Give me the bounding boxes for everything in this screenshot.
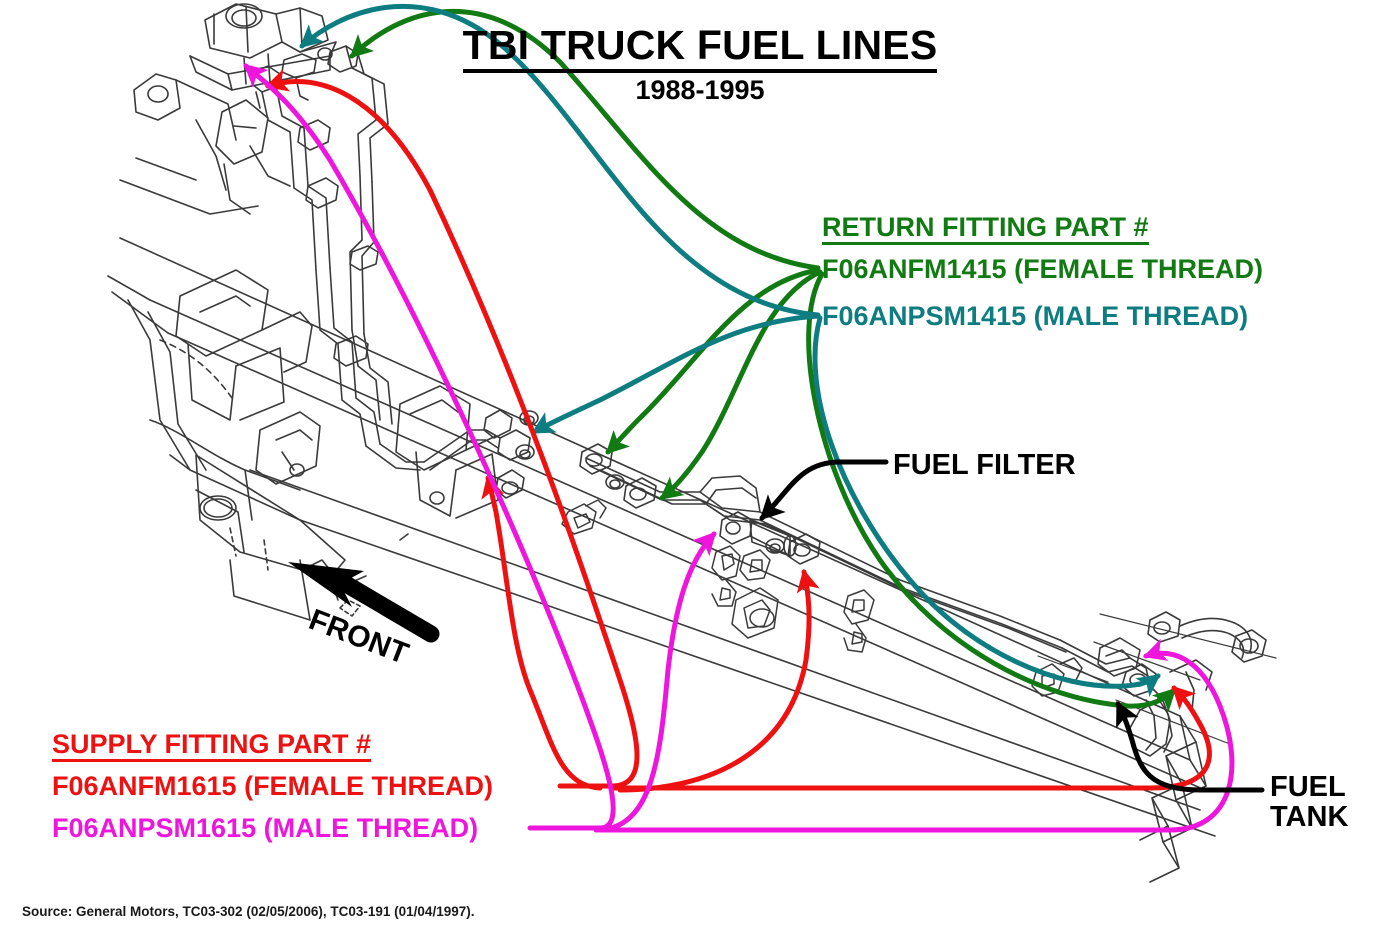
green-leader-tank (809, 274, 1174, 706)
return-fitting-female-part: F06ANFM1415 (FEMALE THREAD) (822, 255, 1263, 283)
return-fitting-male-part: F06ANPSM1415 (MALE THREAD) (822, 302, 1248, 330)
teal-leader-tank (815, 318, 1158, 686)
fuel-filter-label: FUEL FILTER (893, 450, 1076, 480)
magenta-leader-tank (600, 653, 1232, 830)
return-fitting-heading: RETURN FITTING PART # (822, 213, 1149, 245)
fuel-tank-label: FUELTANK (1270, 772, 1348, 833)
fuel-filter-leader (762, 462, 886, 518)
red-leader-filter-side (620, 572, 809, 790)
supply-fitting-female-part: F06ANFM1615 (FEMALE THREAD) (52, 772, 493, 800)
fuel-tank-label-line2: TANK (1270, 801, 1348, 833)
source-attribution: Source: General Motors, TC03-302 (02/05/… (22, 905, 474, 919)
page-title: TBI TRUCK FUEL LINES (0, 24, 1400, 67)
red-leader-tbi (268, 82, 637, 786)
fuel-tank-label-line1: FUEL (1270, 771, 1346, 803)
red-leader-mid (488, 478, 600, 788)
diagram-canvas: TBI TRUCK FUEL LINES 1988-1995 RETURN FI… (0, 0, 1400, 934)
page-subtitle: 1988-1995 (0, 76, 1400, 104)
supply-fitting-male-part: F06ANPSM1615 (MALE THREAD) (52, 814, 478, 842)
magenta-leader-tbi (246, 66, 613, 828)
teal-leader-mid (534, 316, 818, 432)
green-leader-mid2 (662, 272, 820, 498)
fuel-tank-leader (1118, 704, 1262, 790)
supply-fitting-heading: SUPPLY FITTING PART # (52, 730, 371, 762)
